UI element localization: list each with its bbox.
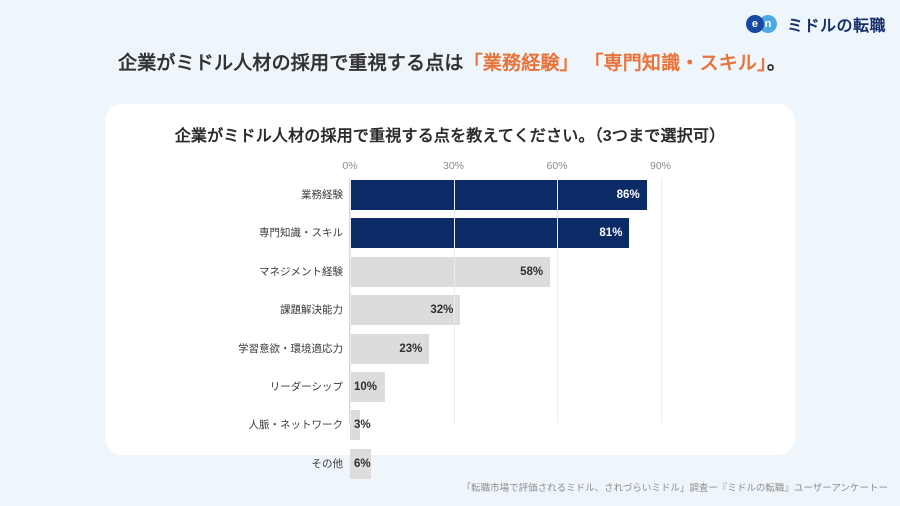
x-tick-0%: 0%: [342, 160, 357, 172]
bar: 10%: [350, 372, 385, 402]
chart-row: 学習意欲・環境適応力23%: [105, 334, 795, 364]
headline-highlight-1: 「業務経験」: [464, 53, 579, 74]
bar-value-label: 32%: [430, 304, 453, 316]
chart-row: リーダーシップ10%: [105, 372, 795, 402]
headline-part-1: 企業がミドル人材の採用で重視する点は: [118, 53, 464, 74]
chart-row: 業務経験86%: [105, 180, 795, 210]
gridline-60%: [557, 178, 558, 423]
chart-title: 企業がミドル人材の採用で重視する点を教えてください。（3つまで選択可）: [105, 122, 795, 146]
bar: 6%: [350, 449, 371, 479]
logo-mark: e n: [746, 15, 780, 33]
chart-card: 企業がミドル人材の採用で重視する点を教えてください。（3つまで選択可） 0%30…: [105, 104, 795, 455]
bar-value-label: 81%: [599, 227, 622, 239]
bar: 32%: [350, 295, 460, 325]
bar-value-label: 6%: [354, 458, 371, 470]
chart-row: マネジメント経験58%: [105, 257, 795, 287]
bar-category-label: 課題解決能力: [280, 295, 343, 325]
headline-highlight-2: 「専門知識・スキル」: [584, 53, 767, 74]
chart-row: 課題解決能力32%: [105, 295, 795, 325]
brand-logo: e n ミドルの転職: [746, 12, 886, 36]
chart-row: その他6%: [105, 449, 795, 479]
bar-category-label: 業務経験: [301, 180, 343, 210]
bar-category-label: その他: [312, 449, 344, 479]
bar-category-label: 専門知識・スキル: [259, 218, 343, 248]
x-axis-tick-labels: 0%30%60%90%: [105, 160, 795, 176]
bar: 86%: [350, 180, 647, 210]
bar: 3%: [350, 410, 360, 440]
bar-value-label: 23%: [399, 343, 422, 355]
bar-value-label: 86%: [617, 189, 640, 201]
bar: 23%: [350, 334, 429, 364]
source-note: 「転職市場で評価されるミドル、されづらいミドル」調査ー『ミドルの転職』ユーザーア…: [462, 480, 888, 494]
bar-category-label: リーダーシップ: [270, 372, 343, 402]
x-tick-30%: 30%: [443, 160, 464, 172]
bar-category-label: マネジメント経験: [259, 257, 343, 287]
chart-row: 専門知識・スキル81%: [105, 218, 795, 248]
bar-value-label: 10%: [354, 381, 377, 393]
chart-row: 人脈・ネットワーク3%: [105, 410, 795, 440]
gridline-0%: [350, 178, 351, 423]
page-headline: 企業がミドル人材の採用で重視する点は「業務経験」 「専門知識・スキル」。: [118, 48, 786, 75]
headline-part-2: 。: [767, 53, 786, 74]
x-tick-90%: 90%: [650, 160, 671, 172]
gridline-30%: [454, 178, 455, 423]
gridline-90%: [661, 178, 662, 423]
brand-name: ミドルの転職: [787, 12, 886, 36]
bar-value-label: 3%: [354, 419, 371, 431]
logo-circle-e-icon: e: [746, 15, 764, 33]
bar-rows: 業務経験86%専門知識・スキル81%マネジメント経験58%課題解決能力32%学習…: [105, 180, 795, 487]
bar-value-label: 58%: [520, 266, 543, 278]
bar-category-label: 人脈・ネットワーク: [249, 410, 344, 440]
x-tick-60%: 60%: [546, 160, 567, 172]
bar: 81%: [350, 218, 629, 248]
bar: 58%: [350, 257, 550, 287]
bar-chart: 0%30%60%90% 業務経験86%専門知識・スキル81%マネジメント経験58…: [105, 160, 795, 450]
bar-category-label: 学習意欲・環境適応力: [238, 334, 343, 364]
